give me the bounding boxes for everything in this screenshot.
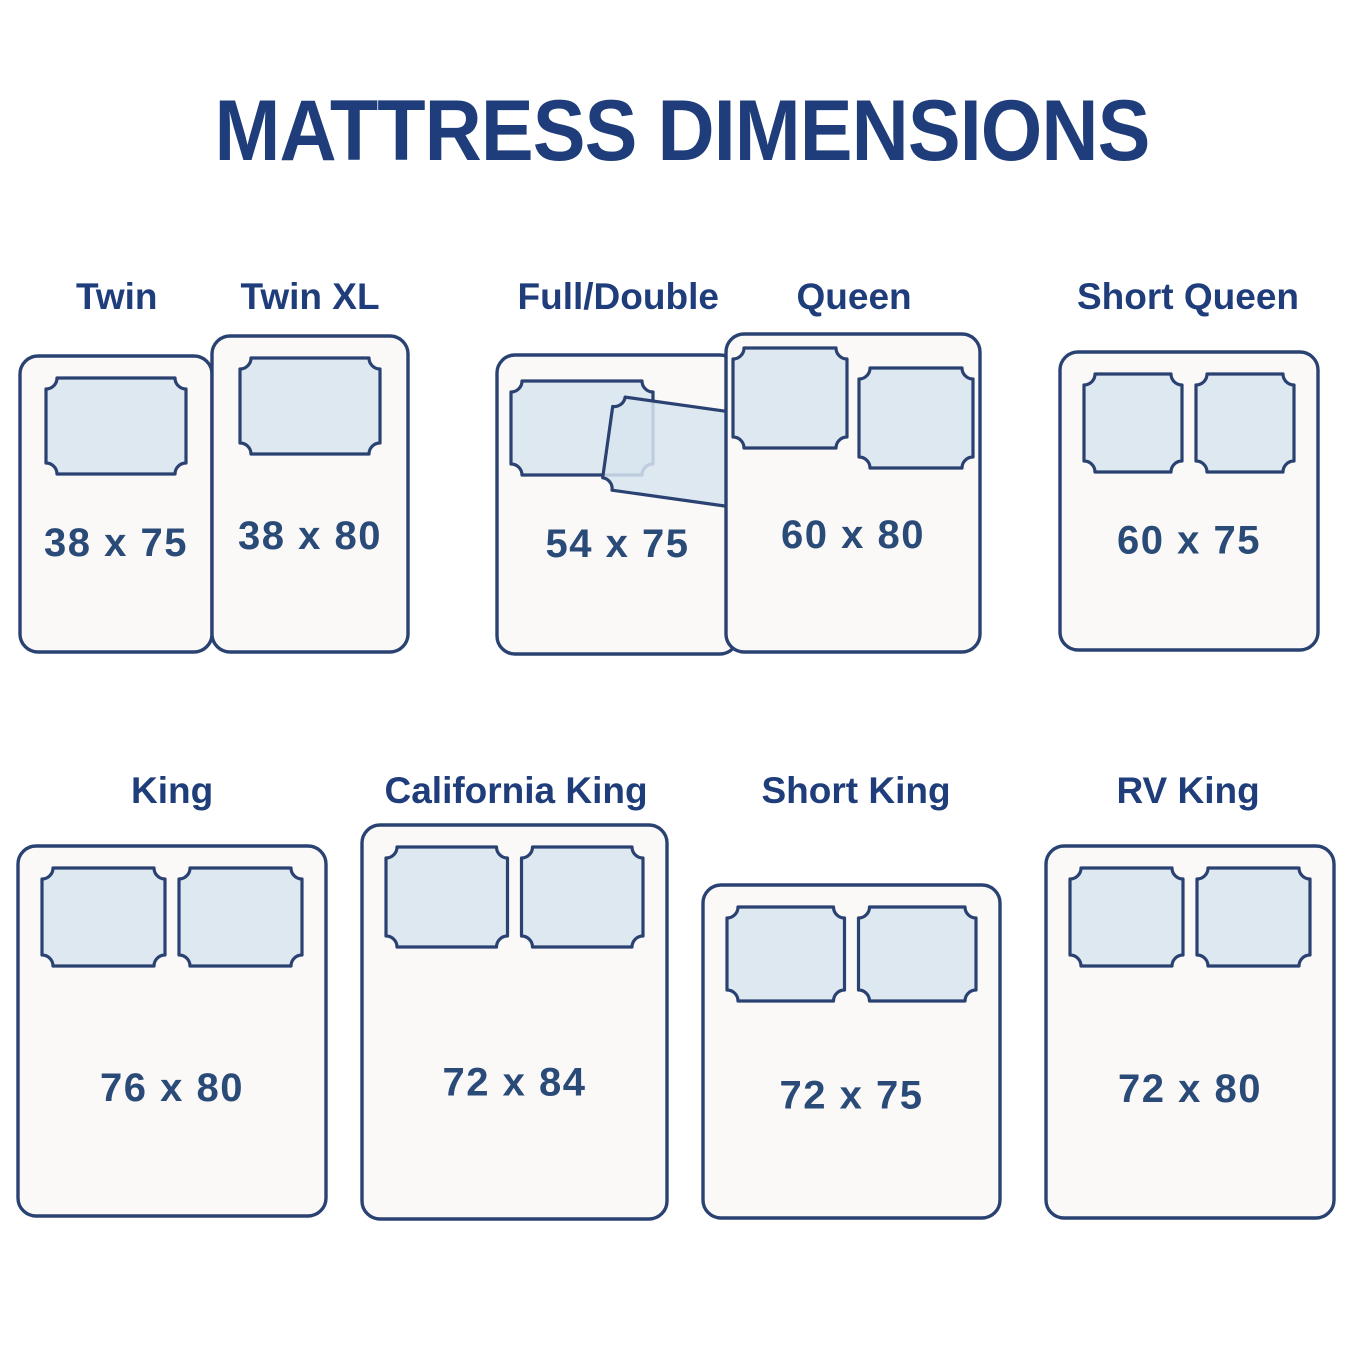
dimension-text-queen: 60 x 80 [781,513,925,557]
pillow [42,868,165,966]
pillow [46,378,186,474]
pillow-shape [727,907,845,1001]
dimension-text-full-double: 54 x 75 [546,522,690,566]
pillow [1197,868,1310,966]
bed-label-twin-xl: Twin XL [241,278,380,315]
pillow-shape [1070,868,1183,966]
bed-diagram-twin: 38 x 75 [6,342,226,666]
infographic-canvas: MATTRESS DIMENSIONS Twin38 x 75Twin XL38… [0,0,1364,1364]
pillow [179,868,302,966]
dimension-text-rv-king: 72 x 80 [1118,1067,1262,1111]
pillow [240,358,380,454]
pillow-shape [859,907,977,1001]
pillow-shape [1196,374,1294,472]
pillow [1070,868,1183,966]
bed-label-california-king: California King [385,772,648,809]
pillow [859,907,977,1001]
dimension-text-california-king: 72 x 84 [443,1061,587,1105]
bed-diagram-short-king: 72 x 75 [689,871,1014,1232]
bed-label-king: King [131,772,213,809]
bed-label-full-double: Full/Double [518,278,719,315]
bed-label-queen: Queen [797,278,912,315]
dimension-text-short-king: 72 x 75 [780,1074,924,1118]
pillow [522,847,644,947]
pillow [1196,374,1294,472]
bed-diagram-short-queen: 60 x 75 [1046,338,1332,664]
dimension-text-king: 76 x 80 [100,1066,244,1110]
pillow [859,368,973,468]
bed-diagram-queen: 60 x 80 [712,320,994,666]
pillow-shape [1197,868,1310,966]
bed-label-short-queen: Short Queen [1077,278,1299,315]
dimension-text-twin-xl: 38 x 80 [238,514,382,558]
pillow-shape [386,847,508,947]
pillow-shape [42,868,165,966]
bed-label-rv-king: RV King [1117,772,1260,809]
bed-diagram-rv-king: 72 x 80 [1032,832,1348,1232]
pillow-shape [240,358,380,454]
pillow [733,348,847,448]
pillow-shape [859,368,973,468]
dimension-text-short-queen: 60 x 75 [1117,518,1261,562]
pillow [386,847,508,947]
pillow-shape [1084,374,1182,472]
bed-label-short-king: Short King [762,772,951,809]
pillow [727,907,845,1001]
dimension-text-twin: 38 x 75 [44,521,188,565]
bed-diagram-twin-xl: 38 x 80 [198,322,422,666]
pillow-shape [733,348,847,448]
bed-diagram-king: 76 x 80 [4,832,340,1230]
pillow-shape [522,847,644,947]
pillow [1084,374,1182,472]
pillow-shape [46,378,186,474]
bed-label-twin: Twin [76,278,158,315]
pillow-shape [179,868,302,966]
page-title: MATTRESS DIMENSIONS [55,88,1310,174]
bed-diagram-california-king: 72 x 84 [348,811,681,1233]
